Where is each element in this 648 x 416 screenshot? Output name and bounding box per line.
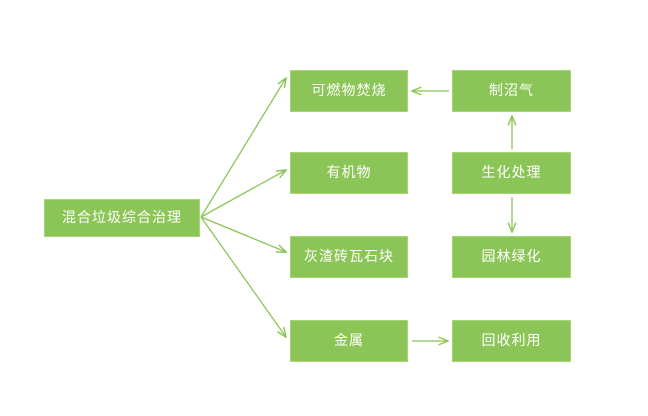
node-label: 可燃物焚烧	[312, 83, 387, 98]
node-label: 混合垃圾综合治理	[62, 210, 182, 225]
node-recycling-reuse[interactable]: 回收利用	[452, 320, 571, 362]
node-label: 制沼气	[489, 83, 534, 98]
edge-root-to-organic-matter	[201, 170, 286, 217]
node-label: 园林绿化	[482, 249, 542, 264]
node-label: 金属	[334, 333, 364, 348]
node-ash-brick-tile-stone[interactable]: 灰渣砖瓦石块	[290, 236, 408, 278]
node-label: 生化处理	[482, 165, 542, 180]
node-organic-matter[interactable]: 有机物	[290, 152, 408, 194]
node-metal[interactable]: 金属	[290, 320, 408, 362]
node-combustible-incineration[interactable]: 可燃物焚烧	[290, 70, 408, 112]
edge-root-to-metal	[201, 217, 286, 337]
node-label: 回收利用	[482, 333, 542, 348]
node-biogas-production[interactable]: 制沼气	[452, 70, 571, 112]
edge-root-to-ash-brick-tile-stone	[201, 217, 286, 252]
node-label: 有机物	[327, 165, 372, 180]
node-label: 灰渣砖瓦石块	[304, 249, 394, 264]
node-landscaping[interactable]: 园林绿化	[452, 236, 571, 278]
flowchart-canvas: 混合垃圾综合治理 可燃物焚烧 有机物 灰渣砖瓦石块 金属 制沼气 生化处理 园林…	[0, 0, 648, 416]
node-biochemical-treatment[interactable]: 生化处理	[452, 152, 571, 194]
edge-root-to-combustible-incineration	[201, 78, 286, 217]
node-mixed-waste-comprehensive-treatment[interactable]: 混合垃圾综合治理	[44, 199, 200, 237]
